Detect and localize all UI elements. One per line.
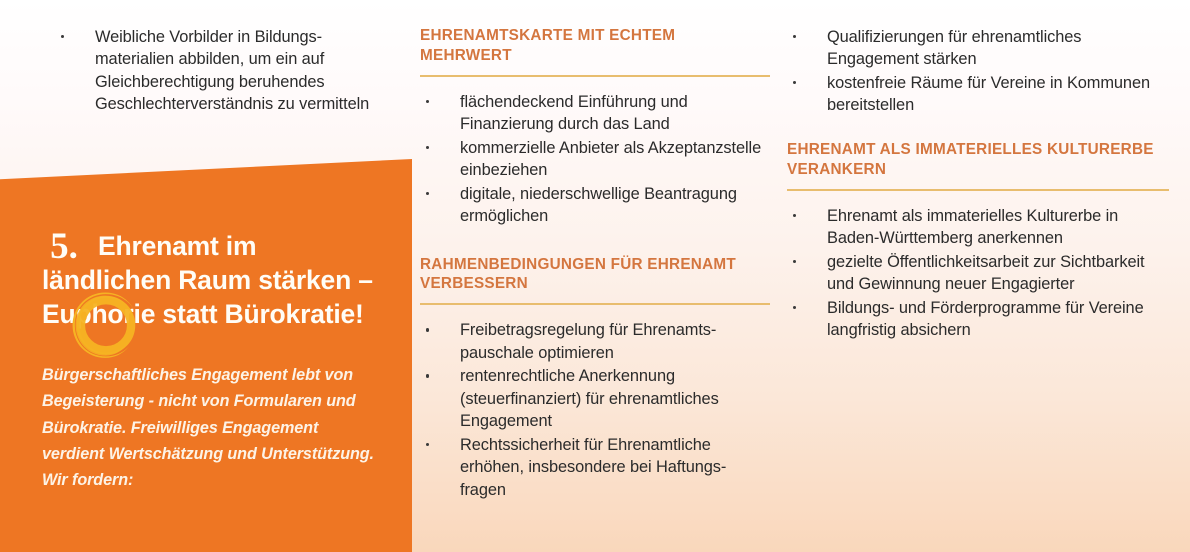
right-column: Qualifizierungen für ehrenamtliches Enga… [787,26,1169,342]
section-rule [420,75,770,77]
right-lead-list: Qualifizierungen für ehrenamtliches Enga… [787,26,1169,117]
list-item: kostenfreie Räume für Vereine in Kommune… [787,72,1169,117]
section-rule [420,303,770,305]
left-column: Weibliche Vorbilder in Bildungs-material… [55,26,385,117]
list-item: rentenrechtliche Anerkennung (steuerfina… [420,365,770,432]
list-item: digitale, niederschwellige Beantragung e… [420,183,770,228]
list-item: Bildungs- und Förderprogramme für Verein… [787,297,1169,342]
feature-panel: Ehrenamt im ländlichen Raum stärken – Eu… [0,150,412,552]
middle-section-1-list: Freibetragsregelung für Ehrenamts-pausch… [420,319,770,501]
panel-subtitle: Bürgerschaftliches Engagement lebt von B… [42,362,382,494]
section-heading-ehrenamtskarte: EHRENAMTSKARTE MIT ECHTEM MEHRWERT [420,26,770,66]
list-item: flächendeckend Einführung und Finanzieru… [420,91,770,136]
middle-section-0-list: flächendeckend Einführung und Finanzieru… [420,91,770,228]
list-item: Freibetragsregelung für Ehrenamts-pausch… [420,319,770,364]
section-heading-rahmenbedingungen: RAHMENBEDINGUNGEN FÜR EHRENAMT VERBESSER… [420,255,770,295]
section-rule [787,189,1169,191]
spacer [420,229,770,255]
list-item: gezielte Öffentlichkeitsarbeit zur Sicht… [787,251,1169,296]
panel-number: 5. [20,208,102,288]
slide-page: Weibliche Vorbilder in Bildungs-material… [0,0,1190,552]
left-bullet-list: Weibliche Vorbilder in Bildungs-material… [55,26,385,116]
list-item: Rechtssicherheit für Ehrenamtliche erhöh… [420,434,770,501]
list-item: Qualifizierungen für ehrenamtliches Enga… [787,26,1169,71]
spacer [787,118,1169,140]
middle-column: EHRENAMTSKARTE MIT ECHTEM MEHRWERT fläch… [420,26,770,502]
right-section-0-list: Ehrenamt als immaterielles Kulturerbe in… [787,205,1169,342]
section-heading-kulturerbe: EHRENAMT ALS IMMATERIELLES KULTURERBE VE… [787,140,1169,180]
list-item: Ehrenamt als immaterielles Kulturerbe in… [787,205,1169,250]
list-item: kommerzielle Anbieter als Akzeptanzstell… [420,137,770,182]
list-item: Weibliche Vorbilder in Bildungs-material… [55,26,385,116]
